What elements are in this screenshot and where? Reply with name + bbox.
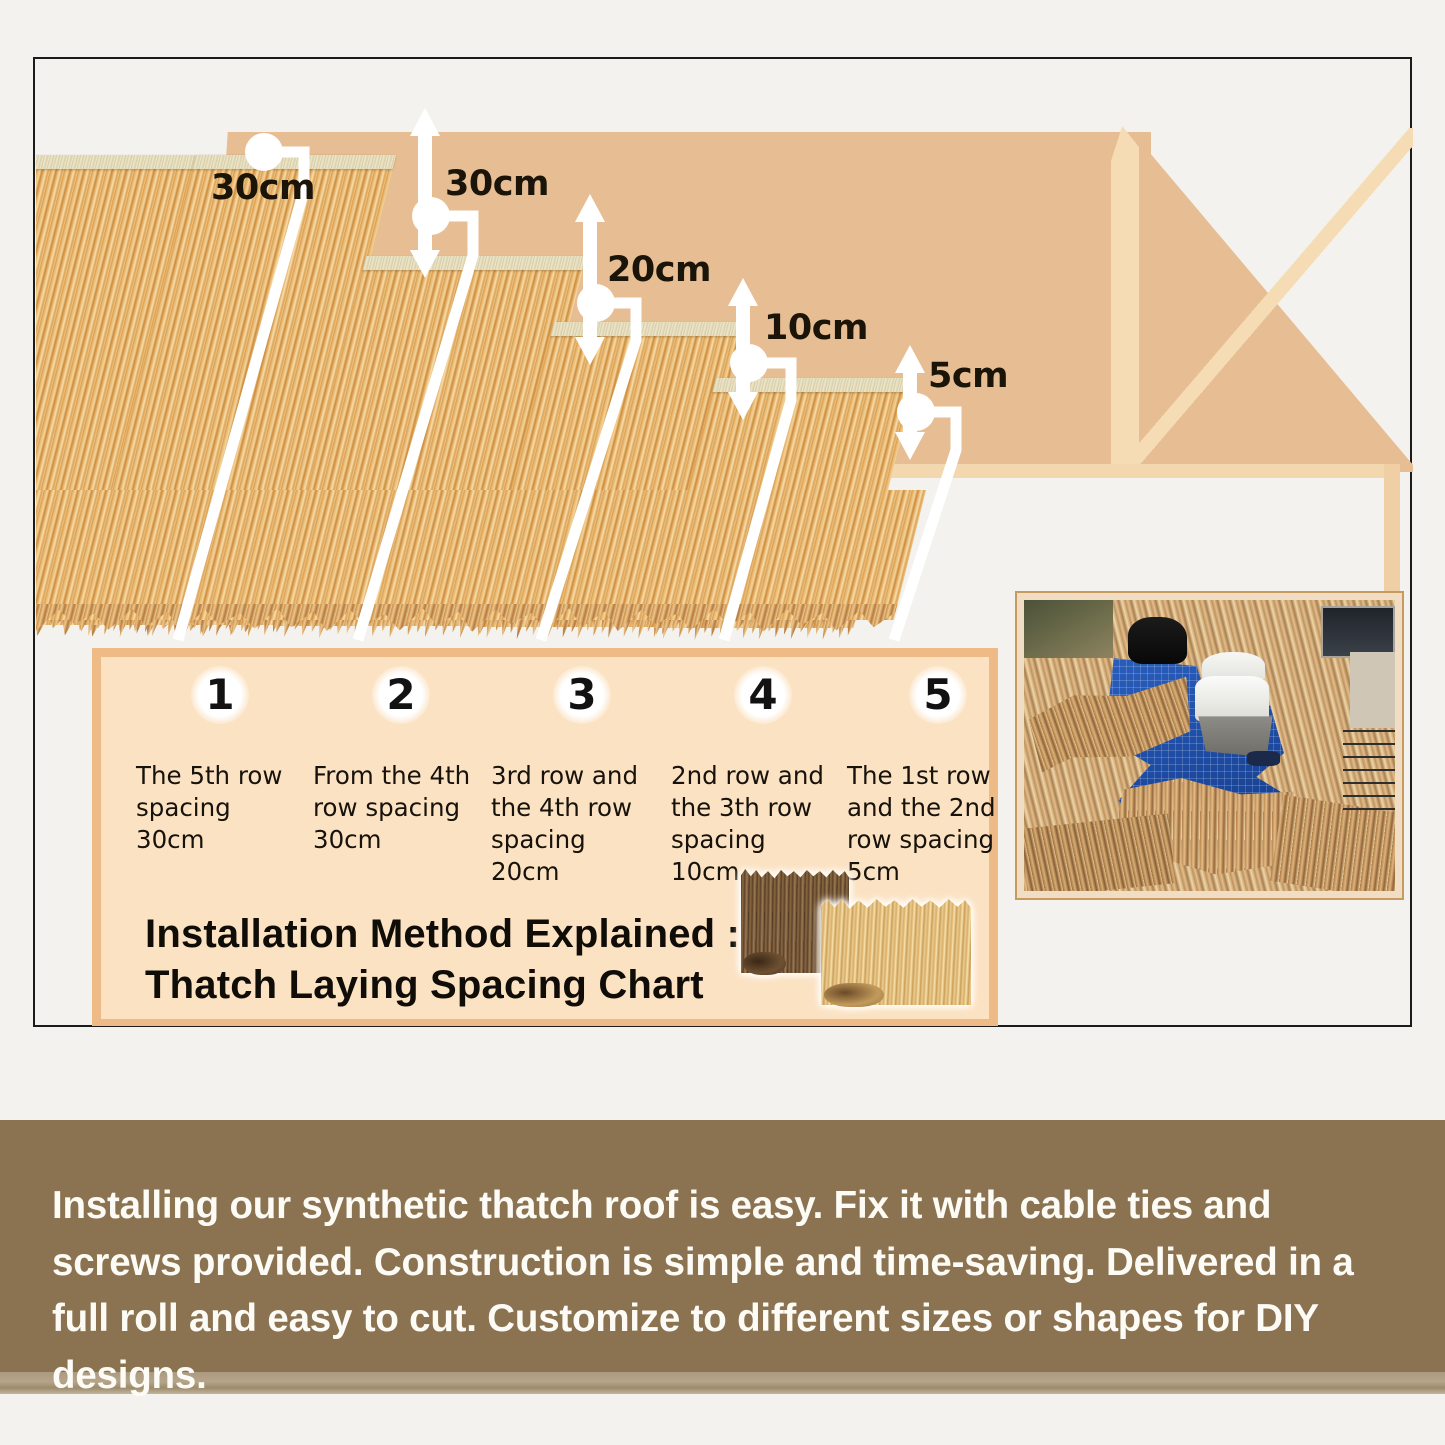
thatch-fray-edge (36, 604, 898, 634)
callout-badge-4: 4 (734, 666, 792, 724)
thatch-strands (36, 490, 926, 620)
callout-badge-1: 1 (191, 666, 249, 724)
photo-window-frame (1321, 606, 1395, 658)
caption-panel: 1 2 3 4 5 The 5th row spacing 30cm From … (92, 648, 998, 1026)
thatch-fray-edge (650, 612, 857, 642)
dimension-label-4: 10cm (764, 308, 868, 348)
photo-foliage (1024, 600, 1113, 658)
roof-plane-left (206, 132, 1151, 472)
roof-rake-edge (1114, 128, 1413, 478)
roof-eave-line (206, 464, 1400, 478)
callout-badge-3: 3 (553, 666, 611, 724)
thatch-fray-edge (474, 611, 671, 641)
dimension-label-2: 30cm (445, 164, 549, 204)
photo-ground (1350, 652, 1395, 728)
illustration-frame: 30cm 30cm 20cm 10cm 5cm 1 2 3 4 5 The 5t… (33, 57, 1412, 1027)
roof-ridge (1111, 126, 1139, 478)
dimension-label-3: 20cm (607, 250, 711, 290)
callout-text-1: The 5th row spacing 30cm (136, 760, 306, 856)
thatch-fray-edge (36, 609, 258, 639)
thatch-sample-gold (821, 897, 971, 1005)
banner-text: Installing our synthetic thatch roof is … (52, 1178, 1392, 1404)
thatch-fray-edge (270, 610, 497, 640)
sample-roll-core (824, 983, 884, 1007)
photo-thatch-panel (1270, 794, 1402, 898)
photo-worker-white (1247, 751, 1280, 766)
sample-roll-core (743, 952, 786, 975)
photo-railing (1343, 722, 1395, 809)
dimension-label-1: 30cm (211, 168, 315, 208)
photo-worker-white (1195, 676, 1269, 723)
callout-badge-5: 5 (909, 666, 967, 724)
panel-title: Installation Method Explained : Thatch L… (145, 909, 785, 1011)
dimension-label-5: 5cm (928, 356, 1008, 396)
house-silhouette: 30cm 30cm 20cm 10cm 5cm 1 2 3 4 5 The 5t… (36, 60, 1413, 1026)
callout-text-2: From the 4th row spacing 30cm (313, 760, 483, 856)
callout-text-3: 3rd row and the 4th row spacing 20cm (491, 760, 661, 887)
photo-worker-black (1128, 617, 1187, 664)
thatch-product-samples (741, 861, 973, 1011)
thatch-bottom-band (36, 490, 926, 620)
installation-photo (1017, 593, 1402, 898)
thatch-fray-edge (75, 609, 282, 639)
callout-badge-2: 2 (372, 666, 430, 724)
